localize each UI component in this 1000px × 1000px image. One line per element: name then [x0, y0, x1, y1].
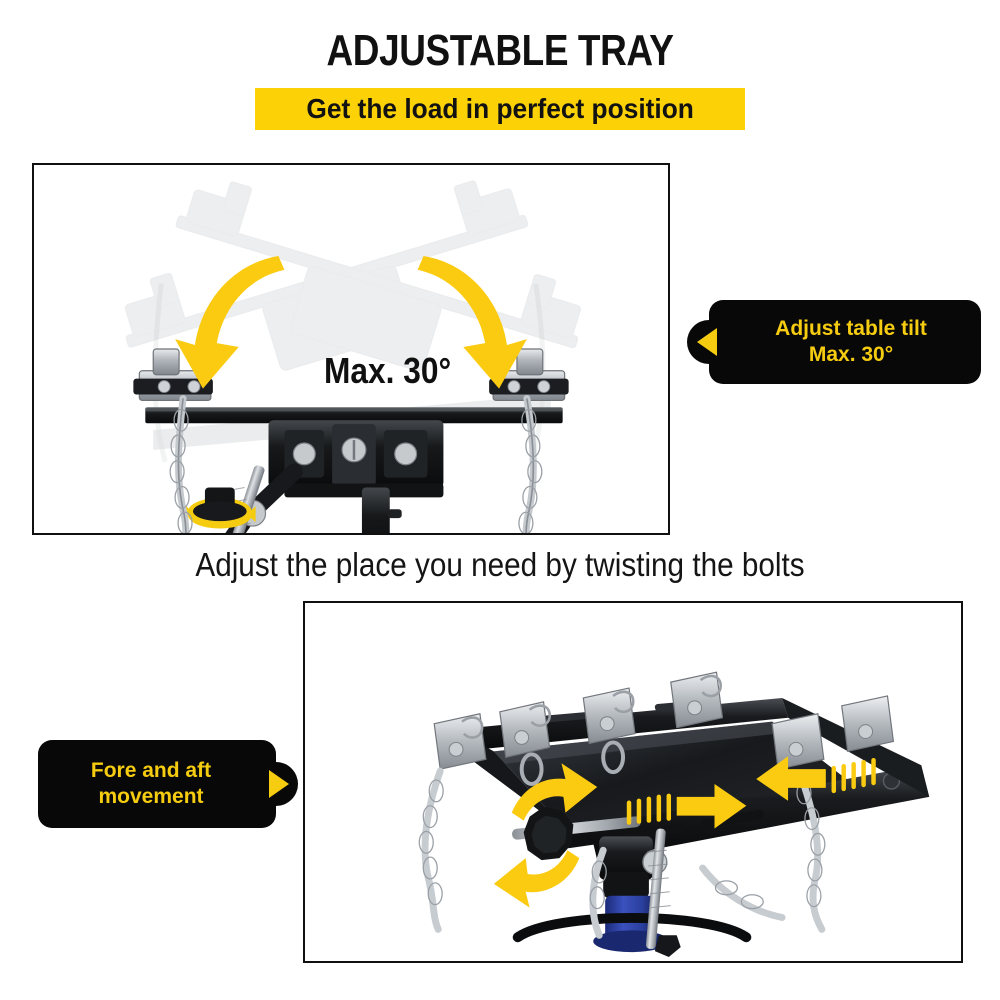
page-title: ADJUSTABLE TRAY — [80, 26, 920, 76]
callout-right-arrow-knob — [687, 320, 731, 364]
callout-left-arrow-knob — [254, 762, 298, 806]
callout-left-text: Fore and aft movement — [77, 758, 237, 809]
subtitle-text: Get the load in perfect position — [306, 93, 694, 125]
callout-adjust-table-tilt[interactable]: Adjust table tilt Max. 30° — [709, 300, 981, 384]
triangle-right-icon — [269, 770, 289, 798]
fore-aft-demonstration-panel — [303, 601, 963, 963]
tilt-demonstration-panel: Max. 30° — [32, 163, 670, 535]
subtitle-highlight-band: Get the load in perfect position — [255, 88, 745, 130]
tilt-photo-illustration — [34, 165, 668, 533]
callout-fore-and-aft-movement[interactable]: Fore and aft movement — [38, 740, 276, 828]
fore-aft-photo-illustration — [305, 603, 961, 961]
triangle-left-icon — [697, 328, 717, 356]
max-tilt-label: Max. 30° — [324, 350, 451, 392]
callout-right-text: Adjust table tilt Max. 30° — [749, 316, 941, 367]
infographic-root: ADJUSTABLE TRAY Get the load in perfect … — [0, 0, 1000, 1000]
middle-caption: Adjust the place you need by twisting th… — [50, 546, 950, 584]
